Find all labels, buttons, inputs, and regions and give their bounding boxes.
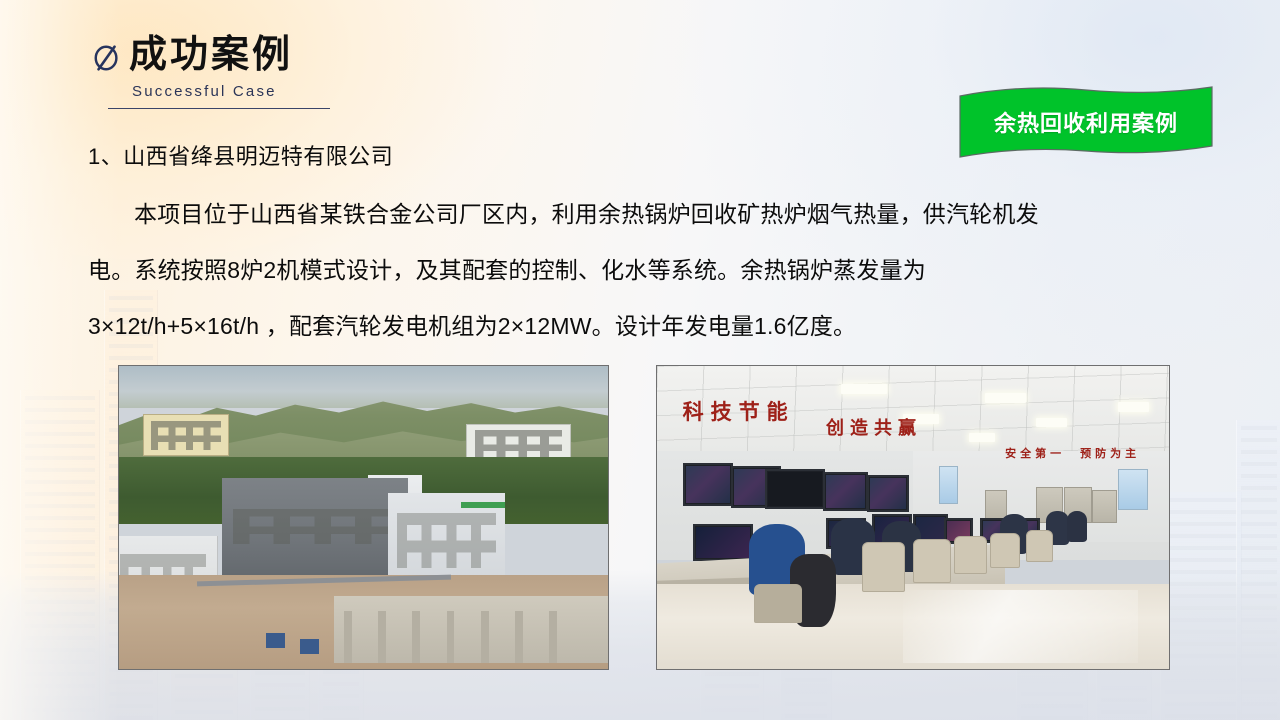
paragraph-line-3: 3×12t/h+5×16t/h ，配套汽轮发电机组为2×12MW。设计年发电量1… — [88, 298, 1198, 354]
paragraph-line-2: 电。系统按照8炉2机模式设计，及其配套的控制、化水等系统。余热锅炉蒸发量为 — [88, 242, 1198, 298]
photo-control-room-content: 科技节能 创造共赢 安全第一 预防为主 — [657, 366, 1169, 669]
wall-slogan-1: 科技节能 — [683, 396, 795, 426]
wall-slogan-2: 创造共赢 — [826, 414, 922, 440]
body-text-block: 1、山西省绛县明迈特有限公司 本项目位于山西省某铁合金公司厂区内，利用余热锅炉回… — [88, 142, 1198, 354]
photo-plant-exterior — [118, 365, 609, 670]
paragraph-line-1: 本项目位于山西省某铁合金公司厂区内，利用余热锅炉回收矿热炉烟气热量，供汽轮机发 — [88, 186, 1198, 242]
wall-slogan-3: 安全第一 预防为主 — [1005, 445, 1140, 461]
slash-circle-icon — [92, 43, 122, 73]
title-block: 成功案例 Successful Case — [92, 36, 512, 109]
ribbon-label: 余热回收利用案例 — [956, 106, 1216, 138]
title-row: 成功案例 — [92, 36, 512, 76]
slide-canvas: 成功案例 Successful Case 余热回收利用案例 1、山西省绛县明迈特… — [0, 0, 1280, 720]
title-divider — [108, 108, 330, 109]
page-title: 成功案例 — [129, 36, 293, 76]
photo-control-room: 科技节能 创造共赢 安全第一 预防为主 — [656, 365, 1170, 670]
content-heading: 1、山西省绛县明迈特有限公司 — [88, 142, 1198, 172]
page-subtitle: Successful Case — [132, 83, 512, 100]
photo-plant-content — [119, 366, 608, 669]
